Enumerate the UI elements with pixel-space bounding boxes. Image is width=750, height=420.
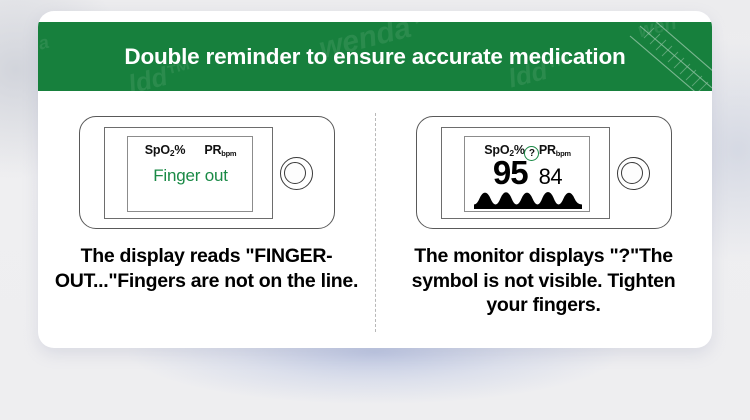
panel-finger-out: SpO2% PRbpm Finger out The display reads… bbox=[38, 91, 375, 348]
reminder-card: da ldd™ wenda™ ldd™ wen bbox=[38, 11, 712, 348]
panel-caption-right: The monitor displays "?"The symbol is no… bbox=[391, 244, 697, 318]
pr-unit: bpm bbox=[221, 149, 236, 158]
device-bezel: SpO2%?PRbpm 95 84 bbox=[441, 127, 610, 219]
spo2-unit: % bbox=[174, 143, 185, 157]
device-power-button-right[interactable] bbox=[617, 157, 650, 190]
panel-question-mark: SpO2%?PRbpm 95 84 The moni bbox=[375, 91, 712, 348]
finger-out-message: Finger out bbox=[128, 166, 253, 186]
device-power-button-inner bbox=[621, 162, 643, 184]
spo2-label: SpO bbox=[145, 143, 170, 157]
device-bezel: SpO2% PRbpm Finger out bbox=[104, 127, 273, 219]
pr-label: PR bbox=[204, 143, 221, 157]
spo2-subscript: 2 bbox=[170, 148, 175, 158]
screen-readings: 95 84 bbox=[465, 156, 590, 189]
pulse-oximeter-device-right: SpO2%?PRbpm 95 84 bbox=[416, 116, 672, 229]
spo2-value: 95 bbox=[493, 156, 528, 189]
panel-caption-left: The display reads "FINGER-OUT..."Fingers… bbox=[54, 244, 360, 293]
card-header: da ldd™ wenda™ ldd™ wen bbox=[38, 22, 712, 91]
plethysmograph-waveform-icon bbox=[474, 192, 582, 209]
screen-label-row-left: SpO2% PRbpm bbox=[128, 143, 253, 157]
device-power-button-left[interactable] bbox=[280, 157, 313, 190]
page-title: Double reminder to ensure accurate medic… bbox=[38, 22, 712, 91]
pr-label: PR bbox=[539, 143, 556, 157]
device-screen-right: SpO2%?PRbpm 95 84 bbox=[464, 136, 590, 212]
device-screen-left: SpO2% PRbpm Finger out bbox=[127, 136, 253, 212]
pr-value: 84 bbox=[539, 166, 562, 188]
device-power-button-inner bbox=[284, 162, 306, 184]
panels-container: SpO2% PRbpm Finger out The display reads… bbox=[38, 91, 712, 348]
pulse-oximeter-device-left: SpO2% PRbpm Finger out bbox=[79, 116, 335, 229]
